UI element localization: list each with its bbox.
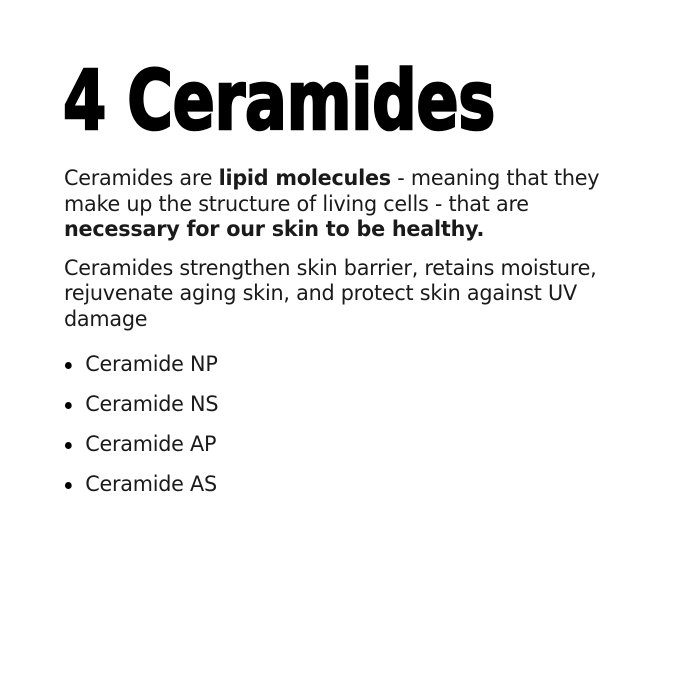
list-item-label: Ceramide AS [85, 472, 217, 497]
bullet-dot-icon [65, 442, 72, 449]
list-item-label: Ceramide AP [85, 432, 216, 457]
bullet-dot-icon [65, 482, 72, 489]
paragraph-definition: Ceramides are lipid molecules - meaning … [64, 166, 624, 243]
page-title: 4 Ceramides [63, 60, 495, 144]
list-item: Ceramide NP [64, 354, 624, 376]
list-item-label: Ceramide NS [85, 392, 218, 417]
ceramide-list: Ceramide NP Ceramide NS Ceramide AP Cera… [64, 354, 644, 496]
list-item: Ceramide AS [64, 474, 624, 496]
body-text-block: Ceramides are lipid molecules - meaning … [64, 166, 644, 514]
paragraph-1-bold-2: necessary for our skin to be healthy. [64, 217, 484, 242]
list-item: Ceramide NS [64, 394, 624, 416]
list-item-label: Ceramide NP [85, 352, 217, 377]
bullet-dot-icon [65, 402, 72, 409]
paragraph-benefits: Ceramides strengthen skin barrier, retai… [64, 256, 624, 333]
paragraph-1-bold-1: lipid molecules [219, 166, 391, 191]
bullet-dot-icon [65, 362, 72, 369]
list-item: Ceramide AP [64, 434, 624, 456]
paragraph-1-segment-1: Ceramides are [64, 166, 219, 191]
